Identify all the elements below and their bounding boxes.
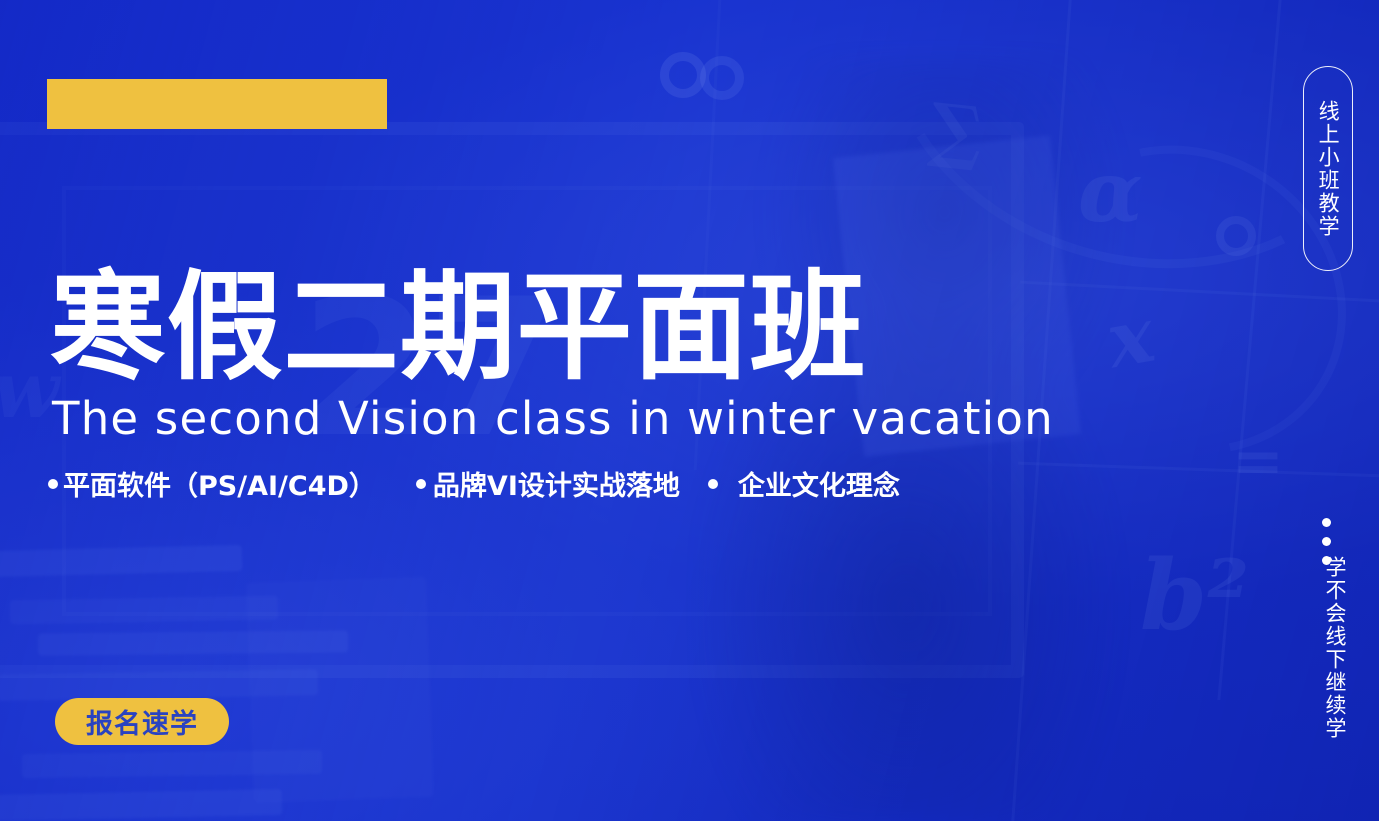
dot-icon — [1322, 518, 1331, 527]
bullet-icon — [48, 479, 58, 489]
dot-icon — [1322, 537, 1331, 546]
page-title: 寒假二期平面班 — [50, 268, 932, 386]
feature-item-culture: 企业文化理念 — [708, 464, 900, 503]
promo-poster: ∑ α x b² = w 27 寒假二期平面班 The second Visio… — [0, 0, 1379, 821]
feature-item-software: 平面软件（PS/AI/C4D） — [48, 464, 376, 503]
poster-content: 寒假二期平面班 The second Vision class in winte… — [0, 0, 1379, 821]
online-class-badge: 线上小班教学 — [1303, 66, 1353, 271]
feature-label: 平面软件（PS/AI/C4D） — [63, 464, 376, 503]
signup-button[interactable]: 报名速学 — [55, 698, 229, 745]
feature-label: 品牌VI设计实战落地 — [433, 464, 680, 503]
guarantee-slogan: 学不会线下继续学 — [1310, 556, 1350, 740]
feature-list: 平面软件（PS/AI/C4D） 品牌VI设计实战落地 企业文化理念 — [48, 464, 900, 503]
accent-bar — [47, 79, 387, 129]
feature-item-brand-vi: 品牌VI设计实战落地 — [416, 464, 680, 503]
online-class-badge-label: 线上小班教学 — [1313, 100, 1343, 238]
subtitle: The second Vision class in winter vacati… — [52, 392, 1054, 445]
bullet-icon — [416, 479, 426, 489]
bullet-icon — [708, 479, 718, 489]
feature-label: 企业文化理念 — [738, 464, 900, 503]
